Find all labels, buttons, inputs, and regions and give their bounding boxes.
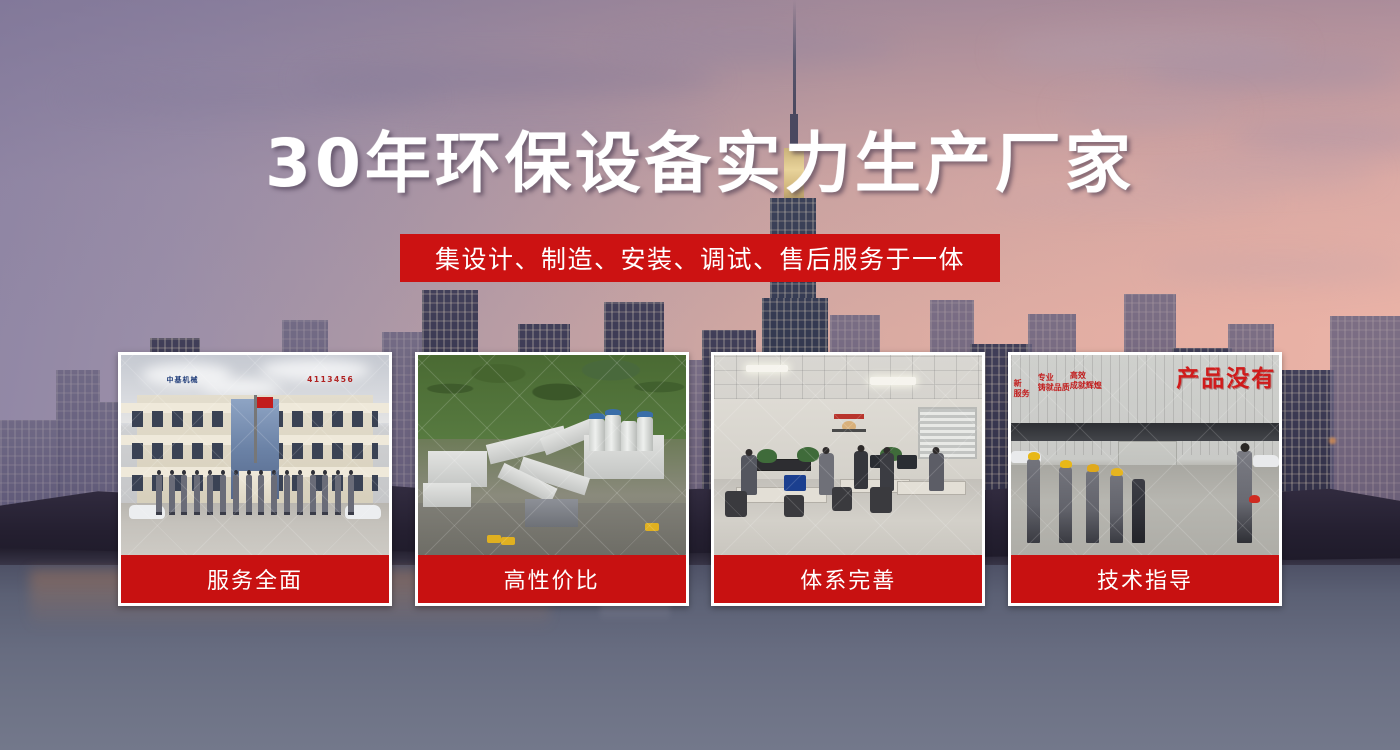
card-photo-workshop-crew: 产品没有 新服务 专业铸就品质 高效成就辉煌 <box>1011 355 1279 555</box>
subtitle-text: 集设计、制造、安装、调试、售后服务于一体 <box>435 240 965 276</box>
promo-banner: 30年环保设备实力生产厂家 集设计、制造、安装、调试、售后服务于一体 <box>0 0 1400 750</box>
building-phone-number: 4113456 <box>307 375 354 384</box>
factory-wall-slogan: 产品没有 <box>1176 359 1276 393</box>
feature-card-value[interactable]: 高性价比 <box>415 352 689 606</box>
card-photo-office-building: 中基机械 4113456 <box>121 355 389 555</box>
building-signage-text: 中基机械 <box>167 375 199 385</box>
feature-card-service[interactable]: 中基机械 4113456 服务全面 <box>118 352 392 606</box>
feature-card-system[interactable]: 体系完善 <box>711 352 985 606</box>
subtitle-banner: 集设计、制造、安装、调试、售后服务于一体 <box>400 234 1000 282</box>
wall-decal-icon <box>832 413 866 439</box>
feature-card-guidance[interactable]: 产品没有 新服务 专业铸就品质 高效成就辉煌 技术指导 <box>1008 352 1282 606</box>
card-label-system: 体系完善 <box>714 555 982 603</box>
card-label-value: 高性价比 <box>418 555 686 603</box>
card-photo-plant-aerial <box>418 355 686 555</box>
card-label-service: 服务全面 <box>121 555 389 603</box>
page-title: 30年环保设备实力生产厂家 <box>0 131 1400 197</box>
feature-card-row: 中基机械 4113456 服务全面 <box>118 352 1282 606</box>
card-photo-office-interior <box>714 355 982 555</box>
card-label-guidance: 技术指导 <box>1011 555 1279 603</box>
